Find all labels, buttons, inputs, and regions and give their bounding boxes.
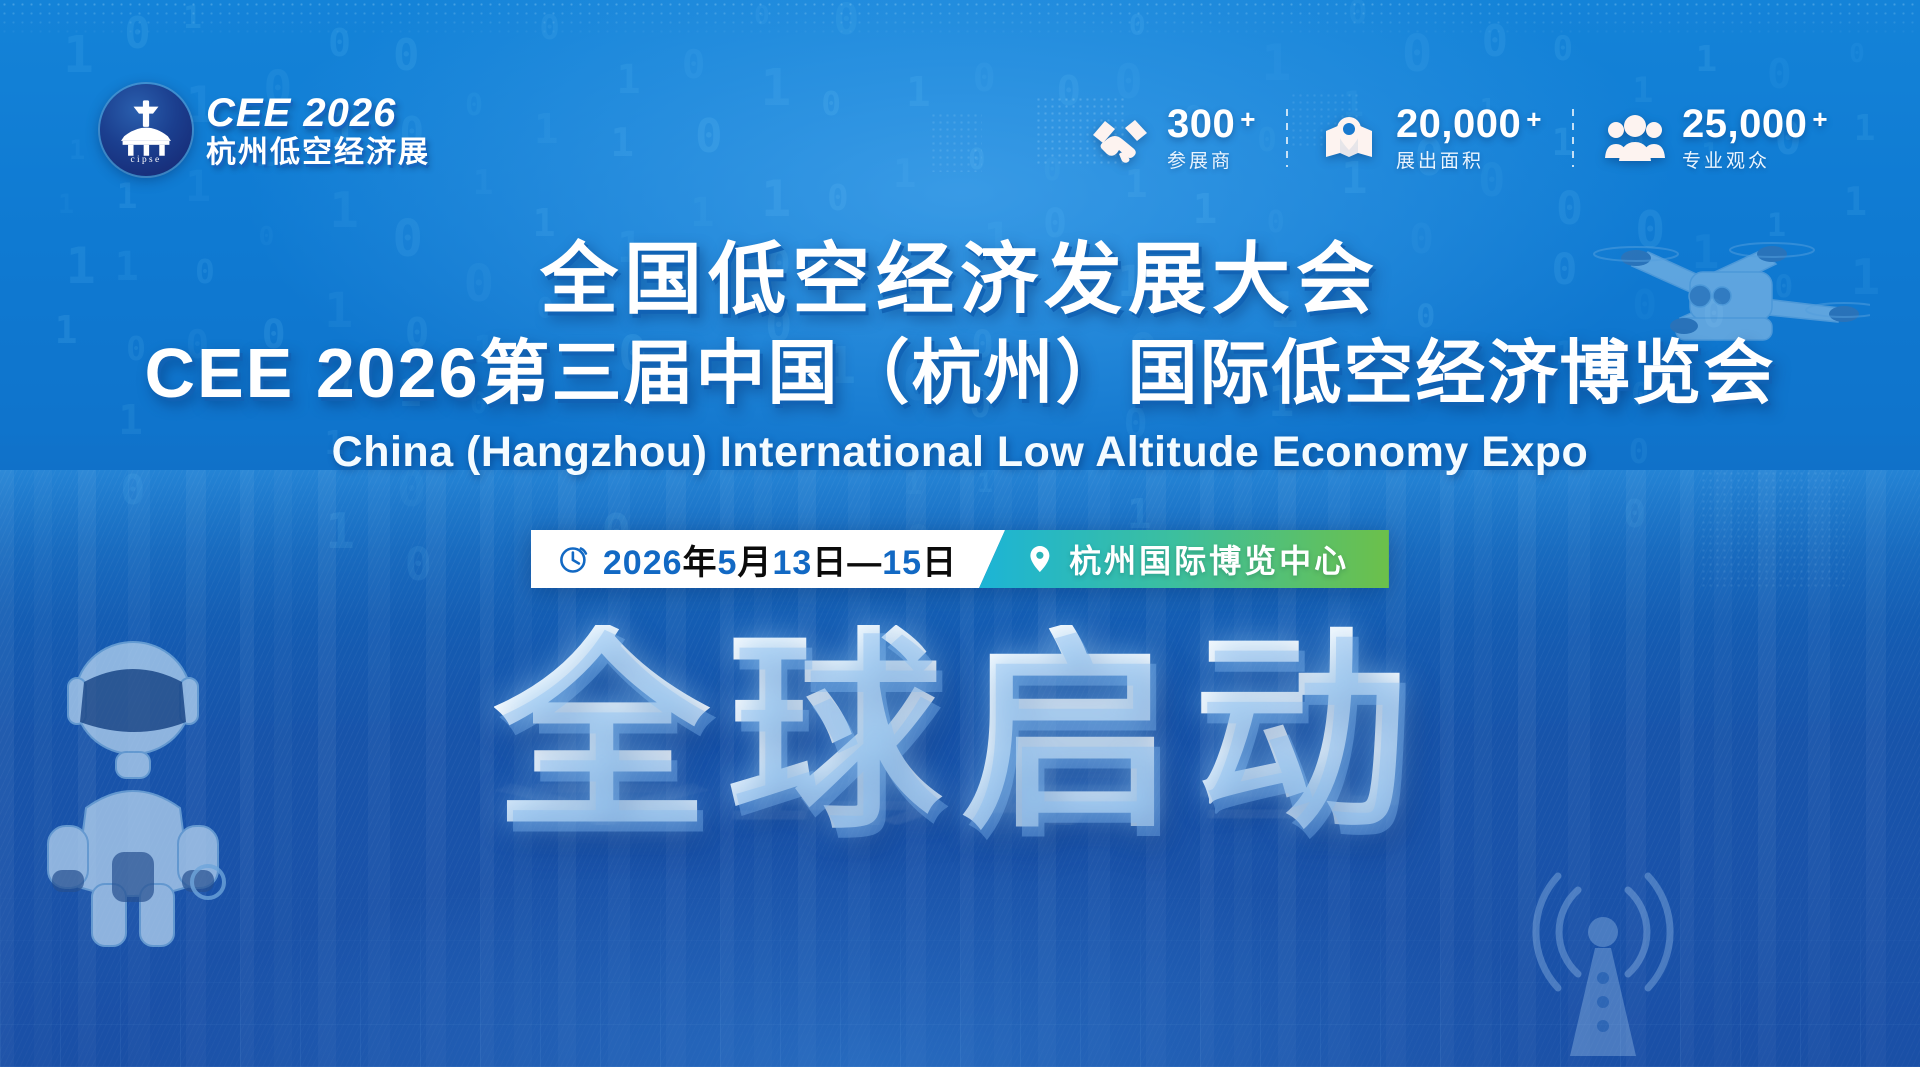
event-promo-banner: 1111101110101110001000111011000010001010… <box>0 0 1920 1067</box>
svg-text:cipse: cipse <box>131 155 162 165</box>
binary-digit: 0 <box>1849 39 1865 69</box>
stat-value: 25,000 + <box>1682 104 1828 144</box>
stat-visitors: 25,000 + 专业观众 <box>1574 104 1858 171</box>
conference-title-cn: 全国低空经济发展大会 <box>0 238 1920 321</box>
stat-number: 20,000 <box>1396 104 1521 144</box>
stat-number: 25,000 <box>1682 104 1807 144</box>
signal-tower-icon <box>1500 860 1780 1060</box>
binary-digit: 1 <box>893 152 916 197</box>
stat-exhibition-area: 20,000 + 展出面积 <box>1288 104 1572 171</box>
stat-plus: + <box>1526 106 1542 132</box>
stats-strip: 300 + 参展商 <box>1059 104 1858 171</box>
date-year-unit: 年 <box>683 544 718 582</box>
clock-icon <box>559 544 589 574</box>
binary-digit: 1 <box>329 182 359 239</box>
binary-digit: 1 <box>906 68 931 116</box>
binary-digit: 0 <box>973 56 996 100</box>
date-chip[interactable]: 2026年5月13日—15日 <box>531 530 1005 588</box>
binary-digit: 0 <box>465 88 483 123</box>
date-year: 2026 <box>603 544 683 582</box>
stat-label: 专业观众 <box>1682 152 1828 171</box>
binary-digit: 0 <box>682 43 705 88</box>
bridge-pagoda-emblem-icon: cipse <box>100 84 192 176</box>
venue-name: 杭州国际博览中心 <box>1069 536 1349 582</box>
date-day-sep: 日— <box>812 544 882 582</box>
top-dot-texture <box>0 0 1920 40</box>
binary-digit: 0 <box>821 84 841 123</box>
hero-headline: 全球启动 <box>0 625 1920 840</box>
binary-digit: 1 <box>616 57 640 103</box>
stat-exhibitors: 300 + 参展商 <box>1059 104 1286 171</box>
handshake-icon <box>1089 113 1151 163</box>
date-day-unit: 日 <box>922 544 957 582</box>
stat-label: 展出面积 <box>1396 152 1542 171</box>
binary-digit: 1 <box>69 135 85 166</box>
stat-value: 20,000 + <box>1396 104 1542 144</box>
logo-title-cn: 杭州低空经济展 <box>206 138 430 168</box>
date-month-unit: 月 <box>737 544 772 582</box>
logo-title-en: CEE 2026 <box>206 93 430 133</box>
binary-digit: 1 <box>473 163 493 203</box>
date-day-start: 13 <box>772 544 812 582</box>
binary-digit: 0 <box>1767 50 1792 98</box>
venue-chip[interactable]: 杭州国际博览中心 <box>979 530 1389 588</box>
binary-digit: 1 <box>611 121 634 166</box>
stat-number: 300 <box>1167 104 1235 144</box>
event-date: 2026年5月13日—15日 <box>603 535 957 584</box>
expo-title-en: China (Hangzhou) International Low Altit… <box>0 428 1920 477</box>
date-day-end: 15 <box>882 544 922 582</box>
expo-title-cn: CEE 2026第三届中国（杭州）国际低空经济博览会 <box>0 335 1920 412</box>
location-pin-icon <box>1025 544 1055 574</box>
hero-headline-text: 全球启动 <box>494 625 1426 840</box>
binary-digit: 0 <box>695 109 723 163</box>
stat-value: 300 + <box>1167 104 1256 144</box>
stat-plus: + <box>1812 106 1828 132</box>
halftone-dots-d <box>1700 470 1850 590</box>
binary-digit: 1 <box>1261 34 1291 92</box>
stat-label: 参展商 <box>1167 152 1256 171</box>
title-block: 全国低空经济发展大会 CEE 2026第三届中国（杭州）国际低空经济博览会 Ch… <box>0 238 1920 477</box>
binary-digit: 1 <box>116 177 137 217</box>
map-pin-icon <box>1318 113 1380 163</box>
binary-digit: 1 <box>1695 39 1717 80</box>
people-group-icon <box>1604 113 1666 163</box>
binary-digit: 1 <box>58 189 74 220</box>
binary-digit: 0 <box>827 178 849 219</box>
binary-digit: 1 <box>761 59 792 118</box>
binary-digit: 1 <box>1193 185 1218 233</box>
date-venue-bar: 2026年5月13日—15日 杭州国际博览中心 <box>531 530 1389 588</box>
event-logo[interactable]: cipse CEE 2026 杭州低空经济展 <box>100 84 430 176</box>
date-month: 5 <box>718 544 738 582</box>
binary-digit: 1 <box>690 190 714 236</box>
binary-digit: 1 <box>761 170 791 228</box>
binary-digit: 1 <box>534 105 559 153</box>
halftone-dots-b <box>930 112 982 172</box>
stat-plus: + <box>1240 106 1256 132</box>
